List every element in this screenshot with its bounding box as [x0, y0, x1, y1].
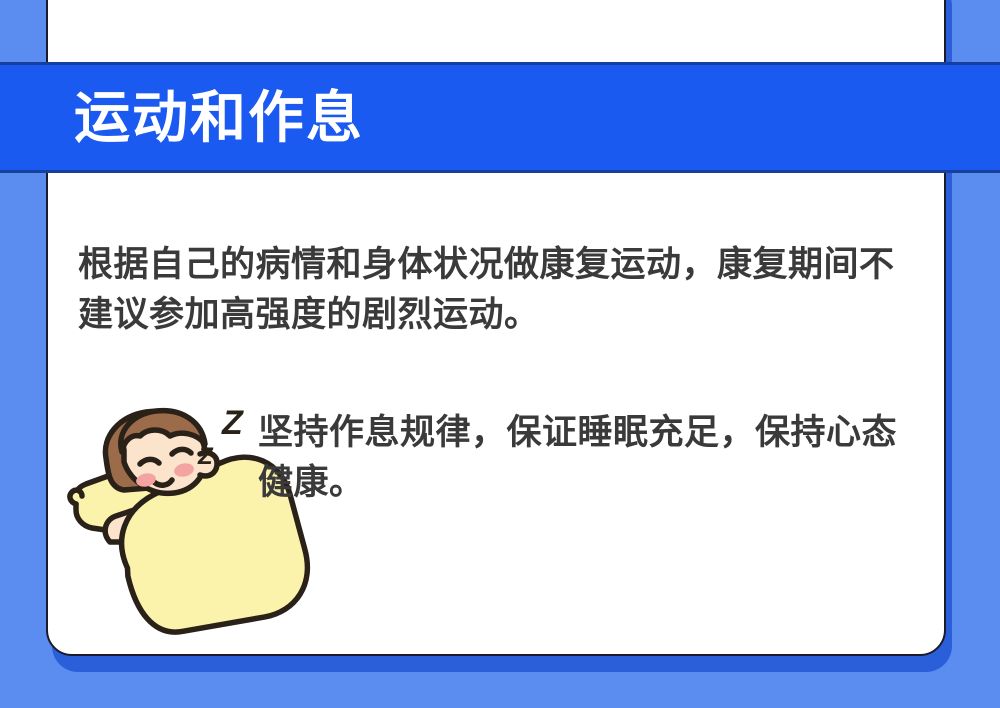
section-title-banner: 运动和作息	[0, 62, 1000, 173]
sleep-z-large: Z	[221, 404, 244, 442]
paragraph-rest: 坚持作息规律，保证睡眠充足，保持心态健康。	[258, 408, 918, 507]
paragraph-exercise: 根据自己的病情和身体状况做康复运动，康复期间不建议参加高强度的剧烈运动。	[78, 240, 918, 339]
sleep-z-small: Z	[197, 443, 214, 470]
slide-canvas: 运动和作息 根据自己的病情和身体状况做康复运动，康复期间不建议参加高强度的剧烈运…	[0, 0, 1000, 708]
page-title: 运动和作息	[74, 90, 364, 146]
